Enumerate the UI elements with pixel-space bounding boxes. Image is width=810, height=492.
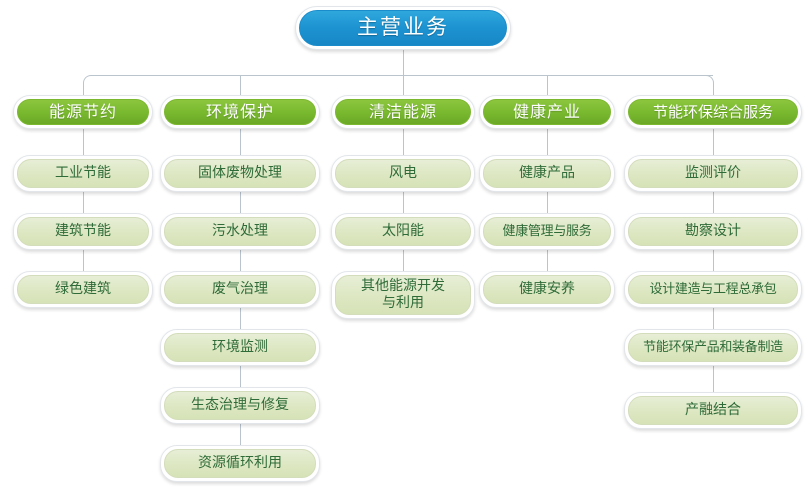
node-leaf-solid-waste-treatment[interactable]: 固体废物处理 [160, 155, 320, 192]
node-leaf-label: 污水处理 [164, 217, 316, 246]
node-leaf-label: 太阳能 [335, 217, 471, 246]
node-leaf-label: 设计建造与工程总承包 [628, 275, 798, 304]
node-branch-clean-energy[interactable]: 清洁能源 [331, 95, 475, 129]
node-leaf-label: 工业节能 [17, 159, 149, 188]
connector-column-4 [547, 192, 548, 213]
node-leaf-label: 绿色建筑 [17, 275, 149, 304]
org-chart-canvas: 主营业务 能源节约 环境保护 清洁能源 健康产业 节能环保综合服务 工业节能 建… [0, 0, 810, 492]
connector-column-5 [713, 308, 714, 329]
connector-root-stem [403, 50, 404, 75]
node-leaf-waste-gas-treatment[interactable]: 废气治理 [160, 271, 320, 308]
connector-column-3 [403, 128, 404, 155]
node-leaf-green-building[interactable]: 绿色建筑 [13, 271, 153, 308]
node-leaf-label: 废气治理 [164, 275, 316, 304]
node-leaf-environmental-monitoring[interactable]: 环境监测 [160, 329, 320, 366]
node-leaf-label: 健康安养 [483, 275, 611, 304]
node-leaf-label: 环境监测 [164, 333, 316, 362]
node-leaf-label: 其他能源开发与利用 [335, 275, 471, 315]
connector-column-3 [403, 250, 404, 271]
connector-column-2 [240, 424, 241, 445]
node-leaf-monitoring-evaluation[interactable]: 监测评价 [624, 155, 802, 192]
connector-drop-branch-3 [403, 75, 404, 95]
node-leaf-other-energy-development[interactable]: 其他能源开发与利用 [331, 271, 475, 319]
connector-column-1 [83, 192, 84, 213]
node-branch-label: 清洁能源 [335, 99, 471, 125]
node-leaf-health-care[interactable]: 健康安养 [479, 271, 615, 308]
connector-drop-branch-2 [240, 75, 241, 95]
node-leaf-wind-power[interactable]: 风电 [331, 155, 475, 192]
node-leaf-label: 勘察设计 [628, 217, 798, 246]
node-branch-environmental-protection[interactable]: 环境保护 [160, 95, 320, 129]
node-leaf-building-energy-saving[interactable]: 建筑节能 [13, 213, 153, 250]
node-leaf-label: 产融结合 [628, 396, 798, 425]
node-leaf-label: 风电 [335, 159, 471, 188]
node-root-label: 主营业务 [299, 10, 507, 46]
connector-column-5 [713, 250, 714, 271]
connector-column-2 [240, 192, 241, 213]
node-leaf-label: 生态治理与修复 [164, 391, 316, 420]
node-branch-label: 节能环保综合服务 [628, 99, 798, 125]
node-leaf-label: 建筑节能 [17, 217, 149, 246]
node-leaf-health-products[interactable]: 健康产品 [479, 155, 615, 192]
node-branch-health-industry[interactable]: 健康产业 [479, 95, 615, 129]
node-leaf-survey-design[interactable]: 勘察设计 [624, 213, 802, 250]
node-leaf-label: 节能环保产品和装备制造 [628, 333, 798, 362]
connector-column-2 [240, 366, 241, 387]
connector-column-5 [713, 128, 714, 155]
connector-column-4 [547, 250, 548, 271]
connector-bus-left-corner [83, 75, 94, 96]
node-leaf-industry-finance-integration[interactable]: 产融结合 [624, 392, 802, 429]
node-leaf-label: 资源循环利用 [164, 449, 316, 478]
node-leaf-label: 健康管理与服务 [483, 217, 611, 246]
node-leaf-design-construction-epc[interactable]: 设计建造与工程总承包 [624, 271, 802, 308]
node-branch-label: 环境保护 [164, 99, 316, 125]
node-root[interactable]: 主营业务 [295, 6, 511, 50]
node-branch-label: 健康产业 [483, 99, 611, 125]
node-leaf-sewage-treatment[interactable]: 污水处理 [160, 213, 320, 250]
connector-column-1 [83, 250, 84, 271]
connector-column-5 [713, 366, 714, 392]
connector-column-4 [547, 128, 548, 155]
node-branch-label: 能源节约 [17, 99, 149, 125]
node-branch-comprehensive-services[interactable]: 节能环保综合服务 [624, 95, 802, 129]
connector-column-3 [403, 192, 404, 213]
node-leaf-label: 固体废物处理 [164, 159, 316, 188]
connector-drop-branch-4 [547, 75, 548, 95]
node-leaf-equipment-manufacturing[interactable]: 节能环保产品和装备制造 [624, 329, 802, 366]
connector-column-5 [713, 192, 714, 213]
node-leaf-solar-energy[interactable]: 太阳能 [331, 213, 475, 250]
connector-bus-right-corner [703, 75, 714, 96]
node-leaf-resource-recycling[interactable]: 资源循环利用 [160, 445, 320, 482]
node-leaf-ecological-restoration[interactable]: 生态治理与修复 [160, 387, 320, 424]
node-leaf-health-management-services[interactable]: 健康管理与服务 [479, 213, 615, 250]
node-leaf-industrial-energy-saving[interactable]: 工业节能 [13, 155, 153, 192]
node-leaf-label: 监测评价 [628, 159, 798, 188]
connector-column-2 [240, 128, 241, 155]
connector-column-2 [240, 308, 241, 329]
connector-column-2 [240, 250, 241, 271]
node-leaf-label: 健康产品 [483, 159, 611, 188]
connector-column-1 [83, 128, 84, 155]
node-branch-energy-saving[interactable]: 能源节约 [13, 95, 153, 129]
